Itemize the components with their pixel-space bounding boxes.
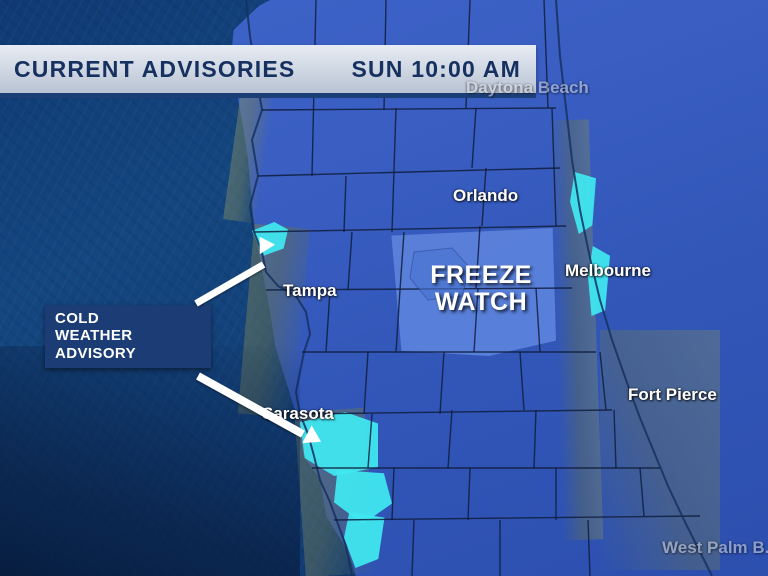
cold-weather-advisory-callout-text: COLD WEATHER ADVISORY bbox=[55, 310, 215, 362]
city-label-tampa: Tampa bbox=[283, 281, 337, 301]
freeze-watch-label-line1: FREEZE bbox=[406, 262, 556, 289]
city-label-daytona-beach: Daytona Beach bbox=[466, 78, 589, 98]
callout-line-1: COLD bbox=[55, 310, 215, 327]
callout-line-3: ADVISORY bbox=[55, 345, 215, 362]
callout-line-2: WEATHER bbox=[55, 327, 215, 344]
weather-map-screenshot: CURRENT ADVISORIES SUN 10:00 AM Daytona … bbox=[0, 0, 768, 576]
advisories-banner: CURRENT ADVISORIES SUN 10:00 AM bbox=[0, 45, 536, 93]
city-label-melbourne: Melbourne bbox=[565, 261, 651, 281]
city-label-west-palm-beach: West Palm B... bbox=[662, 538, 768, 558]
city-label-fort-pierce: Fort Pierce bbox=[628, 385, 717, 405]
banner-title: CURRENT ADVISORIES bbox=[14, 56, 295, 83]
freeze-watch-label: FREEZE WATCH bbox=[406, 262, 556, 316]
city-label-orlando: Orlando bbox=[453, 186, 518, 206]
freeze-watch-label-line2: WATCH bbox=[406, 289, 556, 316]
banner-underline bbox=[0, 93, 536, 98]
